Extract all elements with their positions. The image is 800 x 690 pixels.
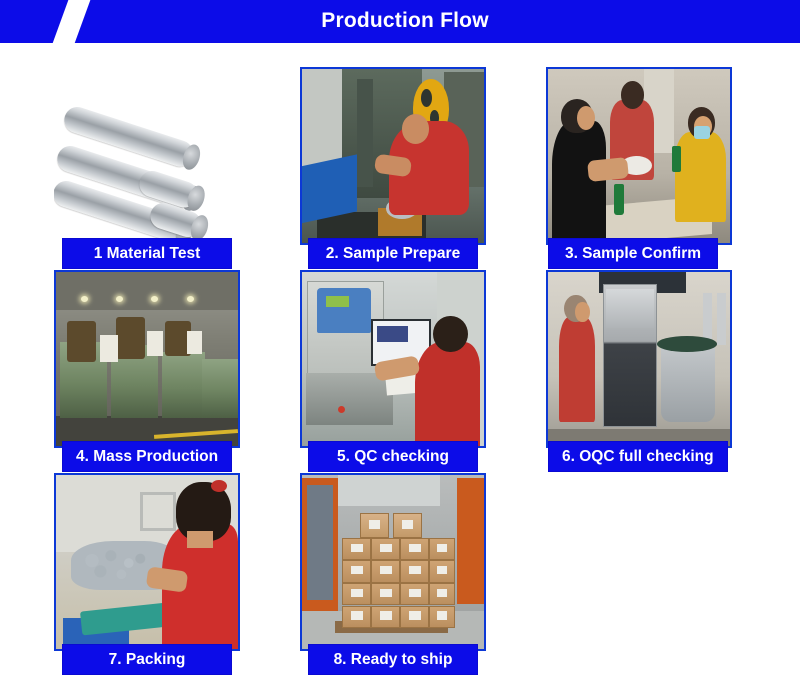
flow-row-3-empty-slot bbox=[546, 473, 732, 651]
step-7-photo bbox=[54, 473, 240, 651]
step-1-label: 1 Material Test bbox=[62, 238, 232, 269]
step-6-label: 6. OQC full checking bbox=[548, 441, 728, 472]
step-4-label: 4. Mass Production bbox=[62, 441, 232, 472]
step-2-label: 2. Sample Prepare bbox=[308, 238, 478, 269]
step-3-label: 3. Sample Confirm bbox=[548, 238, 718, 269]
page-header: Production Flow bbox=[0, 0, 800, 43]
flow-step-6[interactable]: 6. OQC full checking bbox=[546, 270, 732, 448]
flow-step-1[interactable]: 1 Material Test bbox=[54, 67, 240, 245]
step-8-label: 8. Ready to ship bbox=[308, 644, 478, 675]
flow-row-1: 1 Material Test bbox=[0, 67, 800, 270]
step-8-photo bbox=[300, 473, 486, 651]
flow-step-5[interactable]: 5. QC checking bbox=[300, 270, 486, 448]
metal-rods-scene bbox=[54, 67, 240, 245]
factory-machines-scene bbox=[56, 272, 238, 446]
production-flow-grid: 1 Material Test bbox=[0, 43, 800, 690]
counting-machine-scene bbox=[548, 272, 730, 446]
warehouse-cartons-scene bbox=[302, 475, 484, 649]
press-machine-scene bbox=[302, 69, 484, 243]
flow-step-8[interactable]: 8. Ready to ship bbox=[300, 473, 486, 651]
meeting-table-scene bbox=[548, 69, 730, 243]
flow-row-2: 4. Mass Production bbox=[0, 270, 800, 473]
inspection-laptop-scene bbox=[302, 272, 484, 446]
step-1-photo bbox=[54, 67, 240, 245]
page-title: Production Flow bbox=[0, 0, 800, 43]
flow-step-2[interactable]: 2. Sample Prepare bbox=[300, 67, 486, 245]
flow-step-7[interactable]: 7. Packing bbox=[54, 473, 240, 651]
step-5-photo bbox=[300, 270, 486, 448]
flow-step-4[interactable]: 4. Mass Production bbox=[54, 270, 240, 448]
step-7-label: 7. Packing bbox=[62, 644, 232, 675]
step-6-photo bbox=[546, 270, 732, 448]
step-3-photo bbox=[546, 67, 732, 245]
flow-row-3: 7. Packing bbox=[0, 473, 800, 676]
step-5-label: 5. QC checking bbox=[308, 441, 478, 472]
flow-step-3[interactable]: 3. Sample Confirm bbox=[546, 67, 732, 245]
step-4-photo bbox=[54, 270, 240, 448]
step-2-photo bbox=[300, 67, 486, 245]
packing-worker-scene bbox=[56, 475, 238, 649]
